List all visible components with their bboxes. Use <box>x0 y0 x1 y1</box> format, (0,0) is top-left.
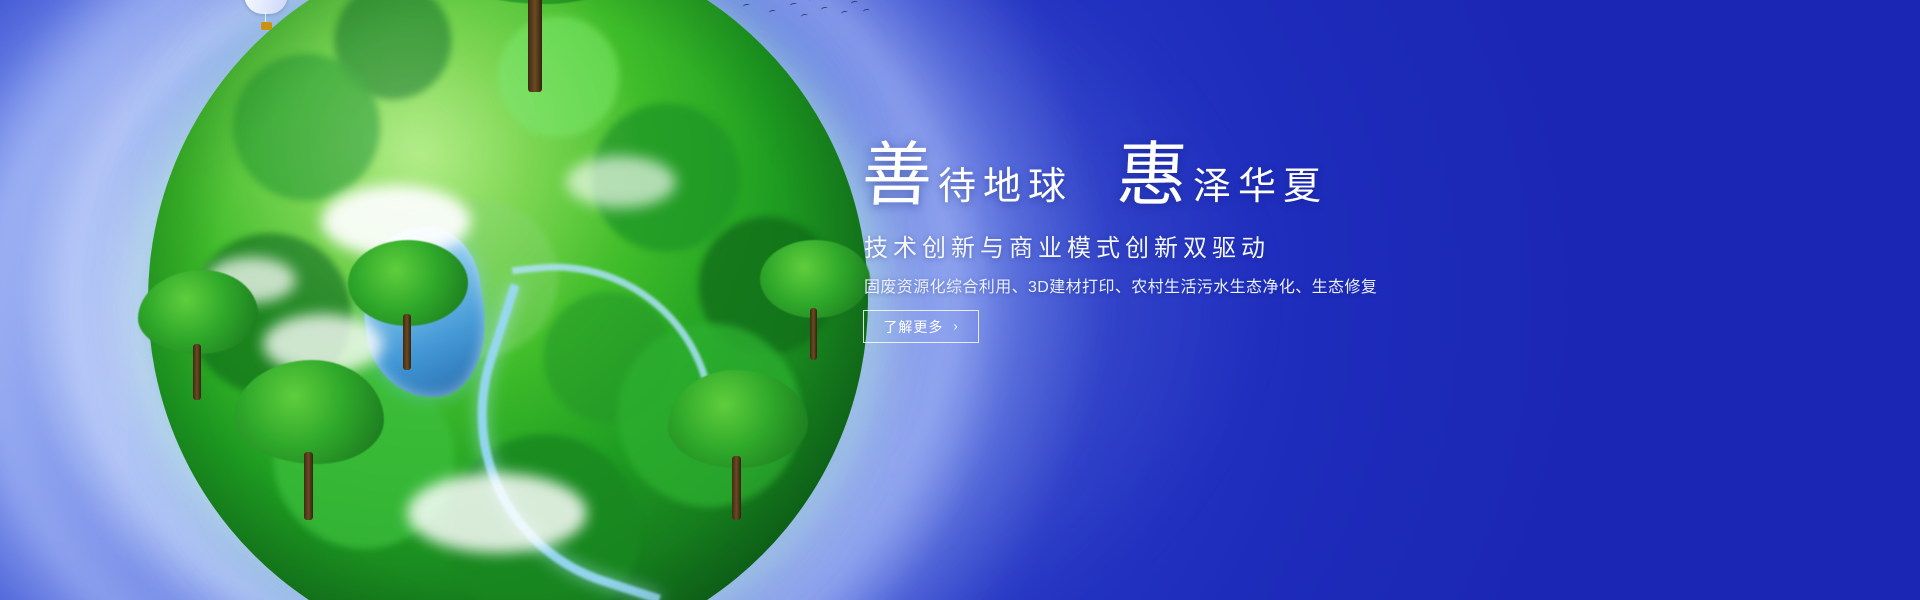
cloud-puff <box>407 473 587 553</box>
tree-shape <box>138 270 258 400</box>
tree-trunk <box>403 314 411 370</box>
headline-small-text-2: 泽华夏 <box>1193 168 1328 210</box>
headline-big-char-1: 善 <box>860 144 939 211</box>
headline-segment-2: 惠 泽华夏 <box>1117 144 1328 211</box>
headline-segment-1: 善 待地球 <box>862 144 1073 211</box>
bird-flock-icon <box>743 0 873 30</box>
chevron-right-icon: › <box>953 320 958 333</box>
globe-image <box>148 0 868 600</box>
tree-trunk <box>193 344 201 400</box>
page-title: 善 待地球 惠 泽华夏 <box>862 138 1562 210</box>
headline-big-char-2: 惠 <box>1115 144 1194 211</box>
tree-trunk <box>732 456 741 520</box>
tree-crown <box>760 240 870 318</box>
learn-more-button[interactable]: 了解更多 › <box>863 310 979 343</box>
tree-shape <box>668 370 808 520</box>
tree-shape <box>416 0 656 94</box>
headline-small-text-1: 待地球 <box>938 168 1073 210</box>
tree-shape <box>348 240 468 370</box>
hero-banner: 善 待地球 惠 泽华夏 技术创新与商业模式创新双驱动 固废资源化综合利用、3D建… <box>0 0 1920 600</box>
tree-shape <box>760 240 870 360</box>
banner-content: 善 待地球 惠 泽华夏 技术创新与商业模式创新双驱动 固废资源化综合利用、3D建… <box>862 0 1562 600</box>
balloon-basket <box>261 22 272 30</box>
tree-trunk <box>528 0 542 92</box>
cloud-puff <box>566 156 676 208</box>
tree-trunk <box>304 452 313 520</box>
hot-air-balloon-icon <box>244 0 288 32</box>
banner-subtitle: 技术创新与商业模式创新双驱动 <box>864 228 1564 263</box>
tree-crown <box>138 270 258 354</box>
tree-trunk <box>810 308 817 360</box>
learn-more-label: 了解更多 <box>883 317 943 337</box>
balloon-envelope <box>244 0 288 14</box>
banner-description: 固废资源化综合利用、3D建材打印、农村生活污水生态净化、生态修复 <box>864 273 1564 297</box>
tree-crown <box>668 370 808 468</box>
